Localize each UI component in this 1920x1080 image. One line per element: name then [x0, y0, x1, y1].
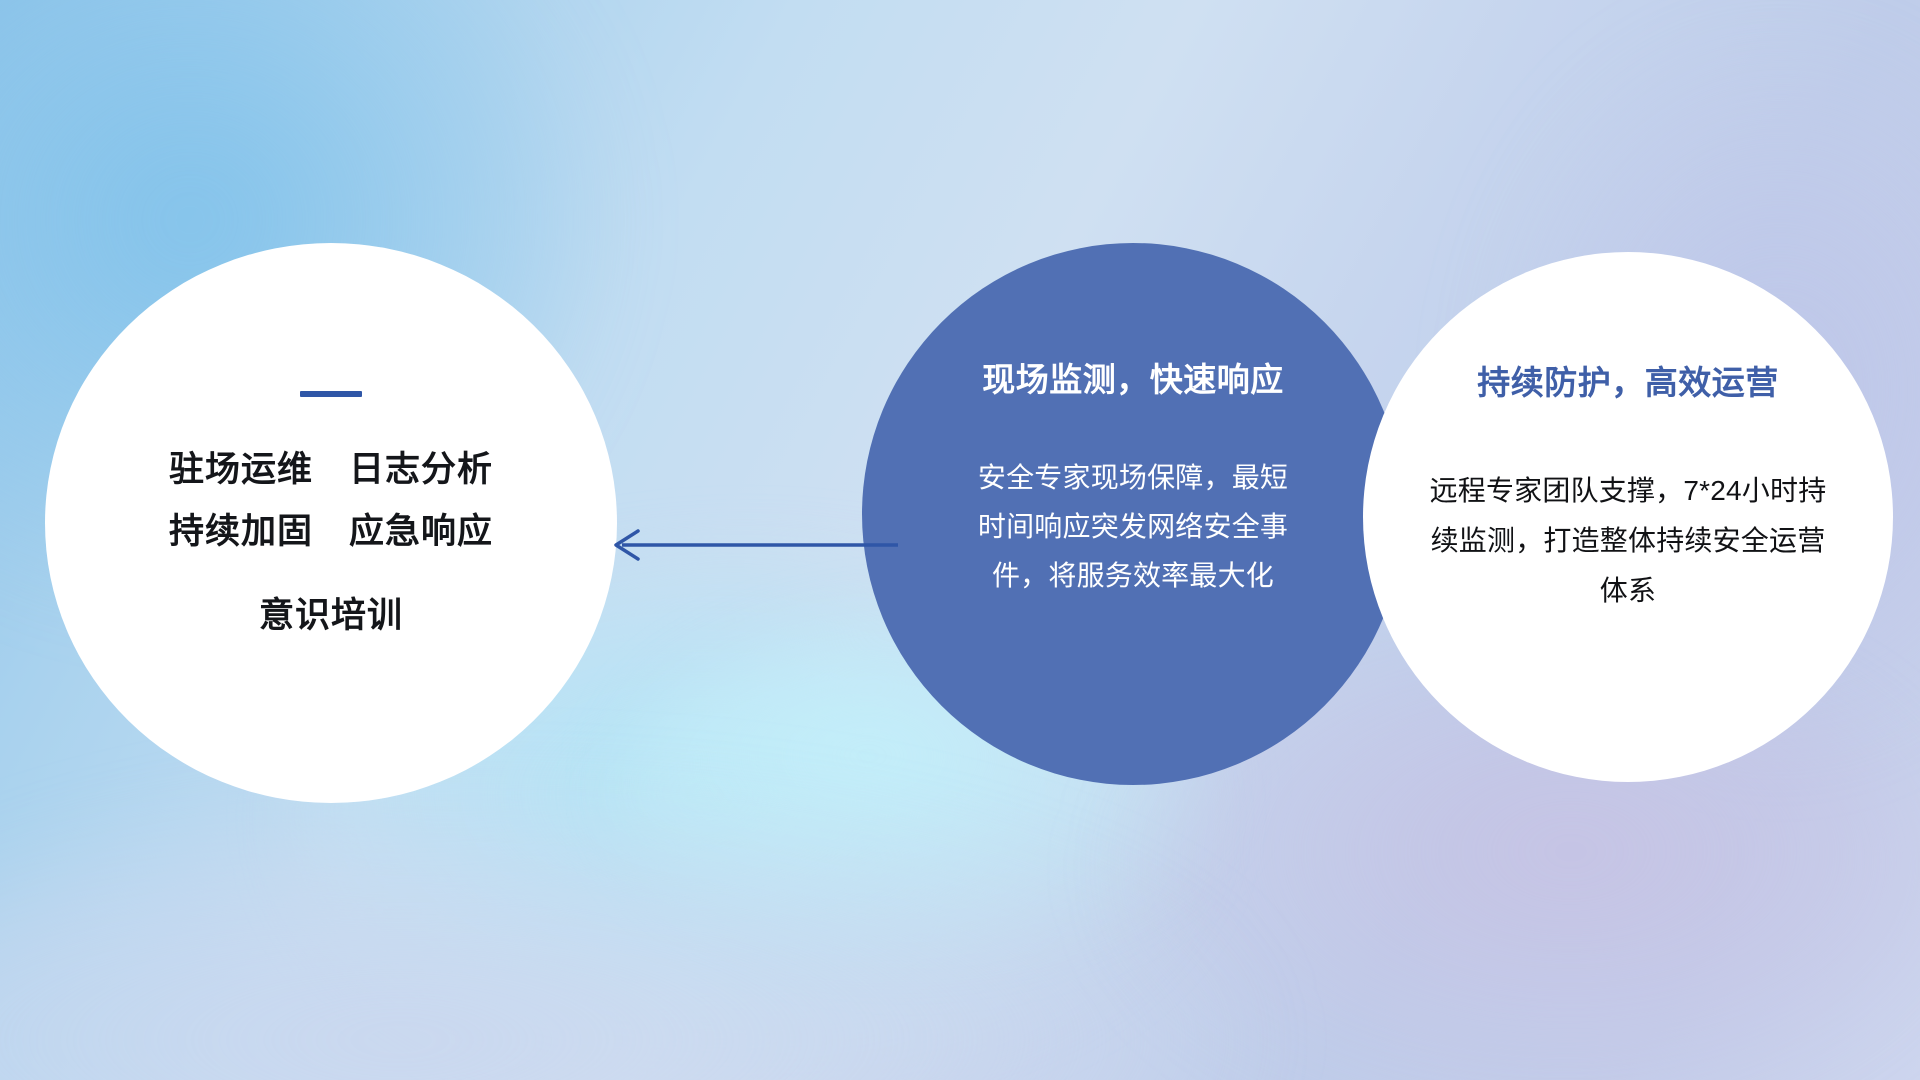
middle-onsite-circle[interactable]: 现场监测，快速响应 安全专家现场保障，最短时间响应突发网络安全事件，将服务效率最… [862, 243, 1404, 785]
right-circle-title: 持续防护，高效运营 [1477, 356, 1779, 404]
right-circle-body: 远程专家团队支撑，7*24小时持续监测，打造整体持续安全运营体系 [1428, 466, 1828, 616]
divider-dash-icon [300, 391, 362, 397]
right-operations-circle[interactable]: 持续防护，高效运营 远程专家团队支撑，7*24小时持续监测，打造整体持续安全运营… [1363, 252, 1893, 782]
left-capability-list: 驻场运维 日志分析 持续加固 应急响应 意识培训 [169, 439, 493, 647]
left-capability-circle[interactable]: 驻场运维 日志分析 持续加固 应急响应 意识培训 [45, 243, 617, 803]
capability-line-1: 驻场运维 日志分析 [169, 439, 493, 501]
arrow-left-icon [600, 520, 900, 570]
middle-circle-body: 安全专家现场保障，最短时间响应突发网络安全事件，将服务效率最大化 [973, 453, 1293, 600]
capability-line-3: 意识培训 [259, 585, 403, 647]
capability-line-2: 持续加固 应急响应 [169, 501, 493, 563]
slide-canvas: 驻场运维 日志分析 持续加固 应急响应 意识培训 现场监测，快速响应 安全专家现… [0, 0, 1920, 1080]
middle-circle-title: 现场监测，快速响应 [982, 353, 1284, 401]
